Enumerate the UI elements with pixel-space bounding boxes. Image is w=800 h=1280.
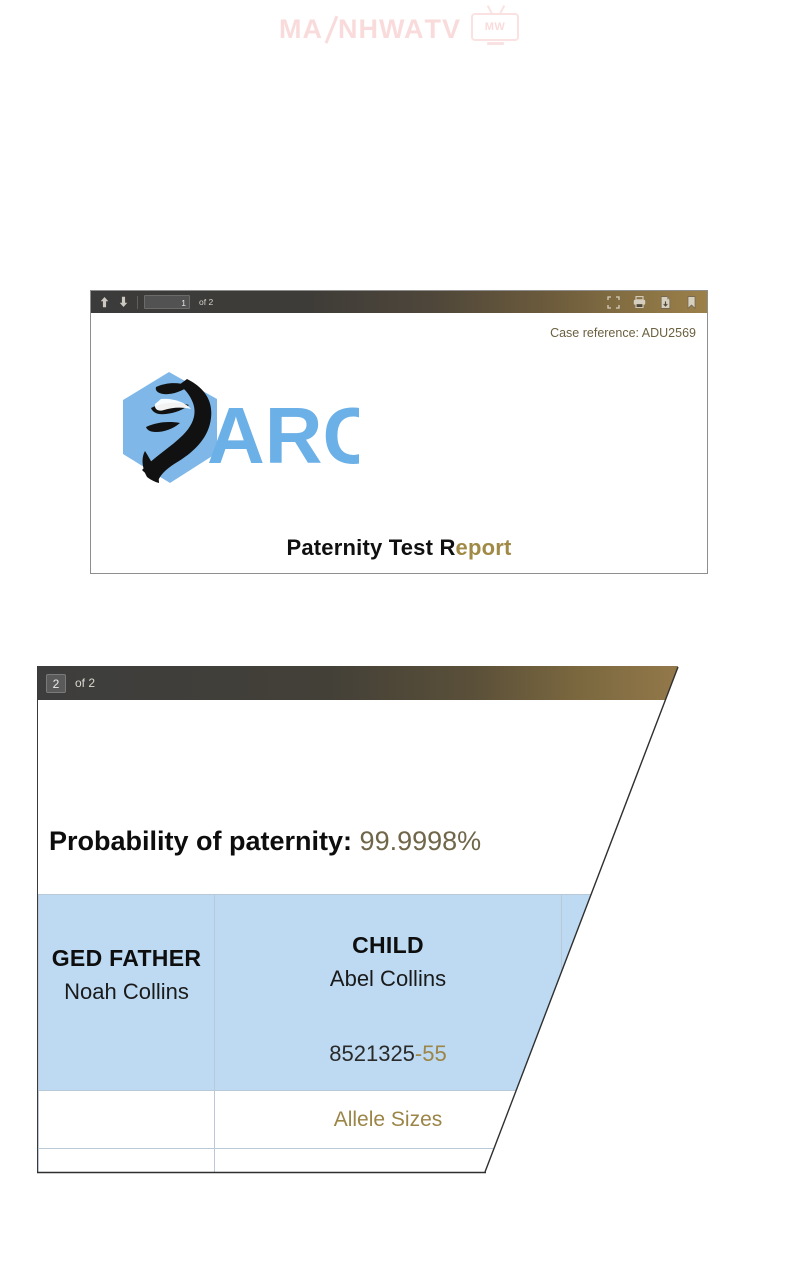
page-total-label-2: of 2	[75, 676, 95, 690]
tv-screen-label: MW	[471, 13, 519, 41]
watermark-wordmark: MA NHWA TV	[279, 16, 461, 43]
watermark-text-a: MA	[279, 16, 323, 43]
page-total-label: of 2	[199, 297, 213, 307]
alleged-father-name: Noah Collins	[43, 979, 210, 1005]
pdf-toolbar-1: 1 of 2	[91, 291, 707, 313]
child-id-gold: -55	[415, 1041, 447, 1066]
child-role-label: CHILD	[219, 932, 557, 959]
svg-text:ARC: ARC	[207, 391, 359, 480]
probability-of-paternity-line: Probability of paternity: 99.9998%	[49, 826, 481, 857]
report-title-dark: Paternity Test R	[286, 535, 455, 560]
child-name: Abel Collins	[219, 966, 557, 992]
case-reference-text: Case reference: ADU2569	[550, 326, 696, 340]
tv-antenna-left	[487, 5, 493, 15]
data-cell-child-value: 13	[215, 1149, 562, 1175]
header-cell-alleged-father: GED FATHER Noah Collins	[39, 895, 215, 1091]
tv-stand	[487, 42, 504, 45]
subheader-cell-overflow	[562, 1091, 683, 1149]
data-cell-father-values: 135845.76	[39, 1149, 215, 1175]
report-title-gold: eport	[456, 535, 512, 560]
table-subheader-row: Allele Sizes	[39, 1091, 683, 1149]
child-id-dark: 8521325	[329, 1041, 415, 1066]
page-number-input-2[interactable]: 2	[46, 674, 66, 693]
father-value-a: 1358	[41, 1173, 88, 1175]
pdf-page-1-content: Case reference: ADU2569 ARC Paternity Te…	[91, 313, 707, 574]
subheader-cell-allele-sizes: Allele Sizes	[215, 1091, 562, 1149]
arrow-down-icon[interactable]	[116, 295, 131, 310]
page-number-input[interactable]: 1	[144, 295, 190, 309]
header-cell-child: CHILD Abel Collins 8521325-55	[215, 895, 562, 1091]
pdf-page-2-content: Probability of paternity: 99.9998% GED F…	[38, 700, 682, 1174]
fullscreen-icon[interactable]	[606, 295, 621, 310]
table-row: 135845.76 13	[39, 1149, 683, 1175]
toolbar-right-controls	[606, 291, 699, 313]
table-header-row: GED FATHER Noah Collins CHILD Abel Colli…	[39, 895, 683, 1091]
manhwatv-watermark: MA NHWA TV MW	[0, 8, 800, 50]
arc-logo: ARC	[109, 365, 359, 490]
bookmark-icon[interactable]	[684, 295, 699, 310]
alleged-father-role-label: GED FATHER	[43, 945, 210, 972]
dna-results-table: GED FATHER Noah Collins CHILD Abel Colli…	[38, 894, 682, 1174]
father-value-b: 45.76	[115, 1173, 168, 1175]
tv-icon: MW	[471, 11, 521, 47]
data-cell-overflow	[562, 1149, 683, 1175]
toolbar-divider	[137, 296, 138, 309]
download-icon[interactable]	[658, 295, 673, 310]
watermark-slash-icon	[323, 16, 338, 42]
watermark-text-b: NHWA	[338, 16, 425, 43]
pdf-viewer-page-1: 1 of 2	[90, 290, 708, 574]
print-icon[interactable]	[632, 295, 647, 310]
watermark-text-c: TV	[424, 16, 461, 43]
child-id: 8521325-55	[219, 1041, 557, 1067]
pdf-viewer-page-2-inner: 2 of 2 Probability of paternity: 99.9998…	[37, 666, 682, 1174]
toolbar-left-controls: 1 of 2	[97, 295, 213, 310]
pdf-toolbar-2: 2 of 2	[38, 666, 682, 700]
header-cell-overflow	[562, 895, 683, 1091]
subheader-cell-father	[39, 1091, 215, 1149]
probability-value: 99.9998%	[360, 826, 482, 856]
arrow-up-icon[interactable]	[97, 295, 112, 310]
pdf-viewer-page-2: 2 of 2 Probability of paternity: 99.9998…	[37, 666, 682, 1174]
probability-label: Probability of paternity:	[49, 826, 352, 856]
tv-antenna-right	[499, 5, 505, 15]
report-title: Paternity Test Report	[91, 535, 707, 561]
